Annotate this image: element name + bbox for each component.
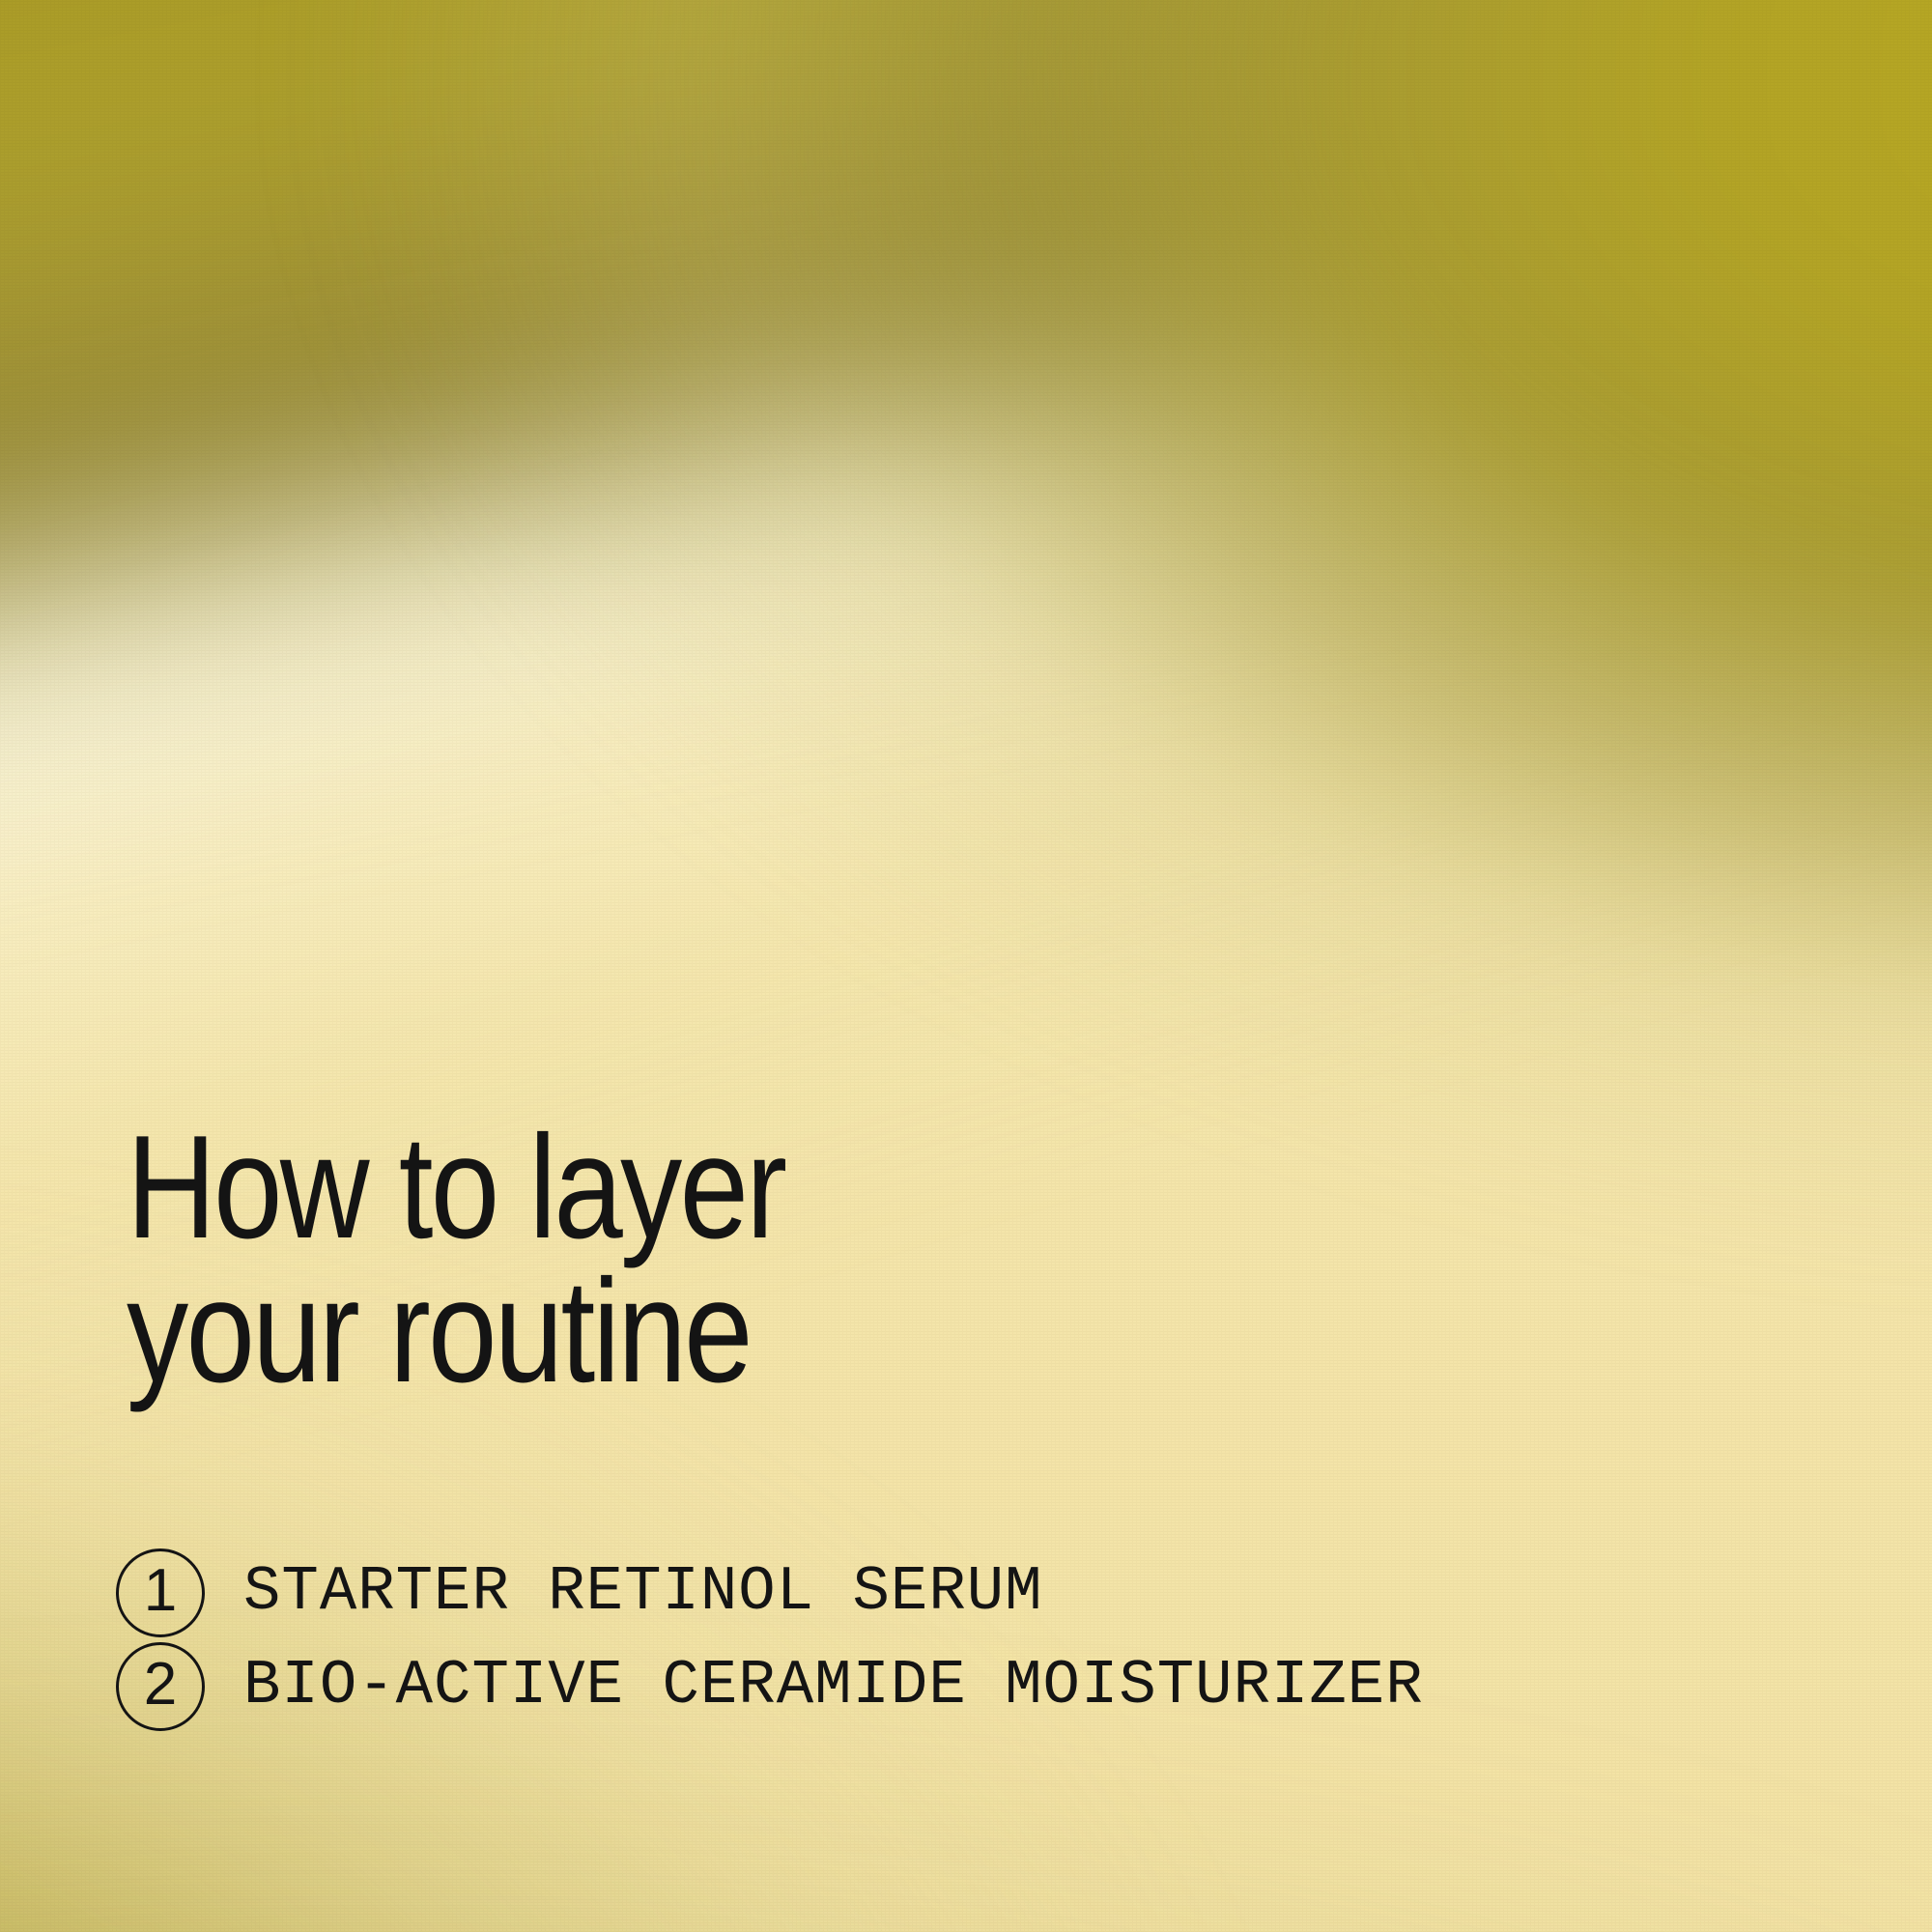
headline-line-1: How to layer: [127, 1105, 784, 1269]
step-number-1: 1: [144, 1561, 177, 1621]
headline-line-2: your routine: [127, 1249, 751, 1413]
step-number-2: 2: [144, 1655, 177, 1715]
card-content: How to layer your routine 1 STARTER RETI…: [0, 0, 1932, 1932]
step-number-badge-1: 1: [116, 1548, 205, 1637]
list-item: 1 STARTER RETINOL SERUM: [116, 1546, 1441, 1639]
step-label-2: BIO-ACTIVE CERAMIDE MOISTURIZER: [243, 1655, 1424, 1718]
page-title: How to layer your routine: [127, 1116, 784, 1404]
routine-step-list: 1 STARTER RETINOL SERUM 2 BIO-ACTIVE CER…: [116, 1546, 1441, 1733]
social-card-canvas: How to layer your routine 1 STARTER RETI…: [0, 0, 1932, 1932]
step-number-badge-2: 2: [116, 1642, 205, 1731]
step-label-1: STARTER RETINOL SERUM: [243, 1561, 1043, 1624]
list-item: 2 BIO-ACTIVE CERAMIDE MOISTURIZER: [116, 1639, 1441, 1733]
